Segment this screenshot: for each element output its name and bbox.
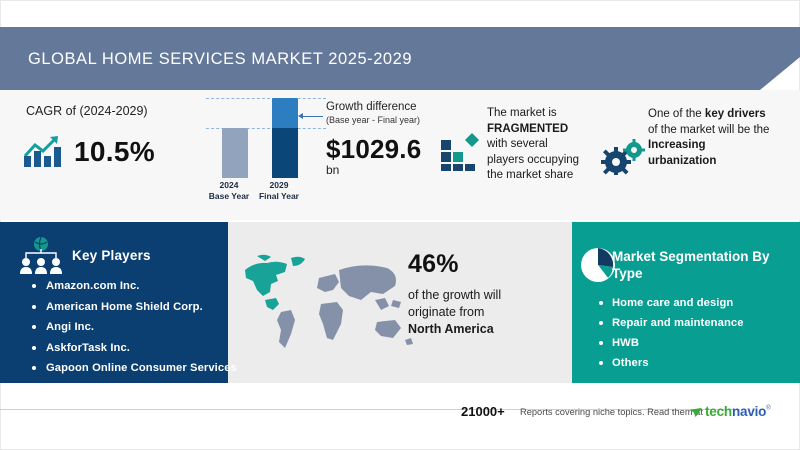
growth-callout-arrow-icon (298, 113, 303, 119)
region-name: North America (408, 322, 494, 336)
logo-text-navio: navio (732, 404, 766, 419)
bar-label-2029-sub: Final Year (259, 191, 299, 201)
list-item: AskforTask Inc. (30, 338, 245, 359)
growth-value: $1029.6 (326, 134, 421, 165)
driver-line2: of the market will be the (648, 124, 769, 136)
bar-label-2024-year: 2024 (220, 180, 239, 190)
bar-label-2029-year: 2029 (270, 180, 289, 190)
fragmented-line2: FRAGMENTED (487, 123, 568, 135)
growth-title: Growth difference (326, 101, 417, 113)
driver-line1: One of the (648, 108, 702, 120)
fragmented-line4: players occupying (487, 154, 579, 166)
infographic-root: GLOBAL HOME SERVICES MARKET 2025-2029 CA… (0, 0, 800, 450)
bar-2029-growth-segment (272, 98, 298, 128)
key-driver-text: One of the key drivers of the market wil… (648, 107, 798, 169)
bar-label-2029: 2029 Final Year (248, 180, 310, 202)
list-item: Angi Inc. (30, 317, 245, 338)
technavio-arrow-icon (690, 405, 703, 423)
map-region-north-america (245, 255, 305, 310)
driver-line1-bold: key drivers (705, 108, 766, 120)
fragmented-text: The market is FRAGMENTED with several pl… (487, 106, 607, 184)
page-title: GLOBAL HOME SERVICES MARKET 2025-2029 (28, 50, 412, 69)
list-item: HWB (598, 333, 798, 353)
world-map (243, 248, 423, 358)
squares-grid-icon (440, 131, 484, 171)
region-growth-percent: 46% (408, 250, 459, 279)
footer-tagline: Reports covering niche topics. Read them… (520, 407, 703, 417)
list-item: Home care and design (598, 293, 798, 313)
gears-icon (601, 139, 647, 175)
bar-label-2024-sub: Base Year (209, 191, 250, 201)
growth-subtitle: (Base year - Final year) (326, 115, 420, 125)
region-line2: originate from (408, 305, 484, 319)
key-players-title: Key Players (72, 248, 151, 263)
key-players-list: Amazon.com Inc. American Home Shield Cor… (30, 276, 245, 379)
growth-callout-line (301, 116, 323, 117)
growth-unit: bn (326, 163, 339, 177)
list-item: Repair and maintenance (598, 313, 798, 333)
cagr-value: 10.5% (74, 136, 155, 168)
fragmented-line1: The market is (487, 107, 557, 119)
fragmented-line5: the market share (487, 169, 573, 181)
logo-trademark: ® (766, 406, 770, 412)
technavio-logo[interactable]: technavio® (690, 403, 771, 419)
list-item: Others (598, 353, 798, 373)
segmentation-title: Market Segmentation By Type (612, 248, 792, 282)
chart-dashline-top (206, 98, 326, 99)
driver-line4: urbanization (648, 155, 716, 167)
cagr-label: CAGR of (2024-2029) (26, 104, 148, 118)
network-globe-icon (18, 236, 64, 278)
region-line1: of the growth will (408, 288, 501, 302)
logo-text-tech: tech (705, 404, 732, 419)
list-item: Gapoon Online Consumer Services (30, 358, 245, 379)
fragmented-line3: with several (487, 138, 548, 150)
region-growth-text: of the growth will originate from North … (408, 287, 558, 338)
bar-chart-growth-icon (22, 132, 66, 170)
list-item: American Home Shield Corp. (30, 297, 245, 318)
list-item: Amazon.com Inc. (30, 276, 245, 297)
growth-difference-label: Growth difference (Base year - Final yea… (326, 101, 420, 127)
segmentation-list: Home care and design Repair and maintena… (598, 293, 798, 373)
growth-bar-chart (206, 98, 326, 178)
bar-2024-base-year (222, 128, 248, 178)
report-count: 21000+ (461, 404, 505, 419)
driver-line3: Increasing (648, 139, 706, 151)
